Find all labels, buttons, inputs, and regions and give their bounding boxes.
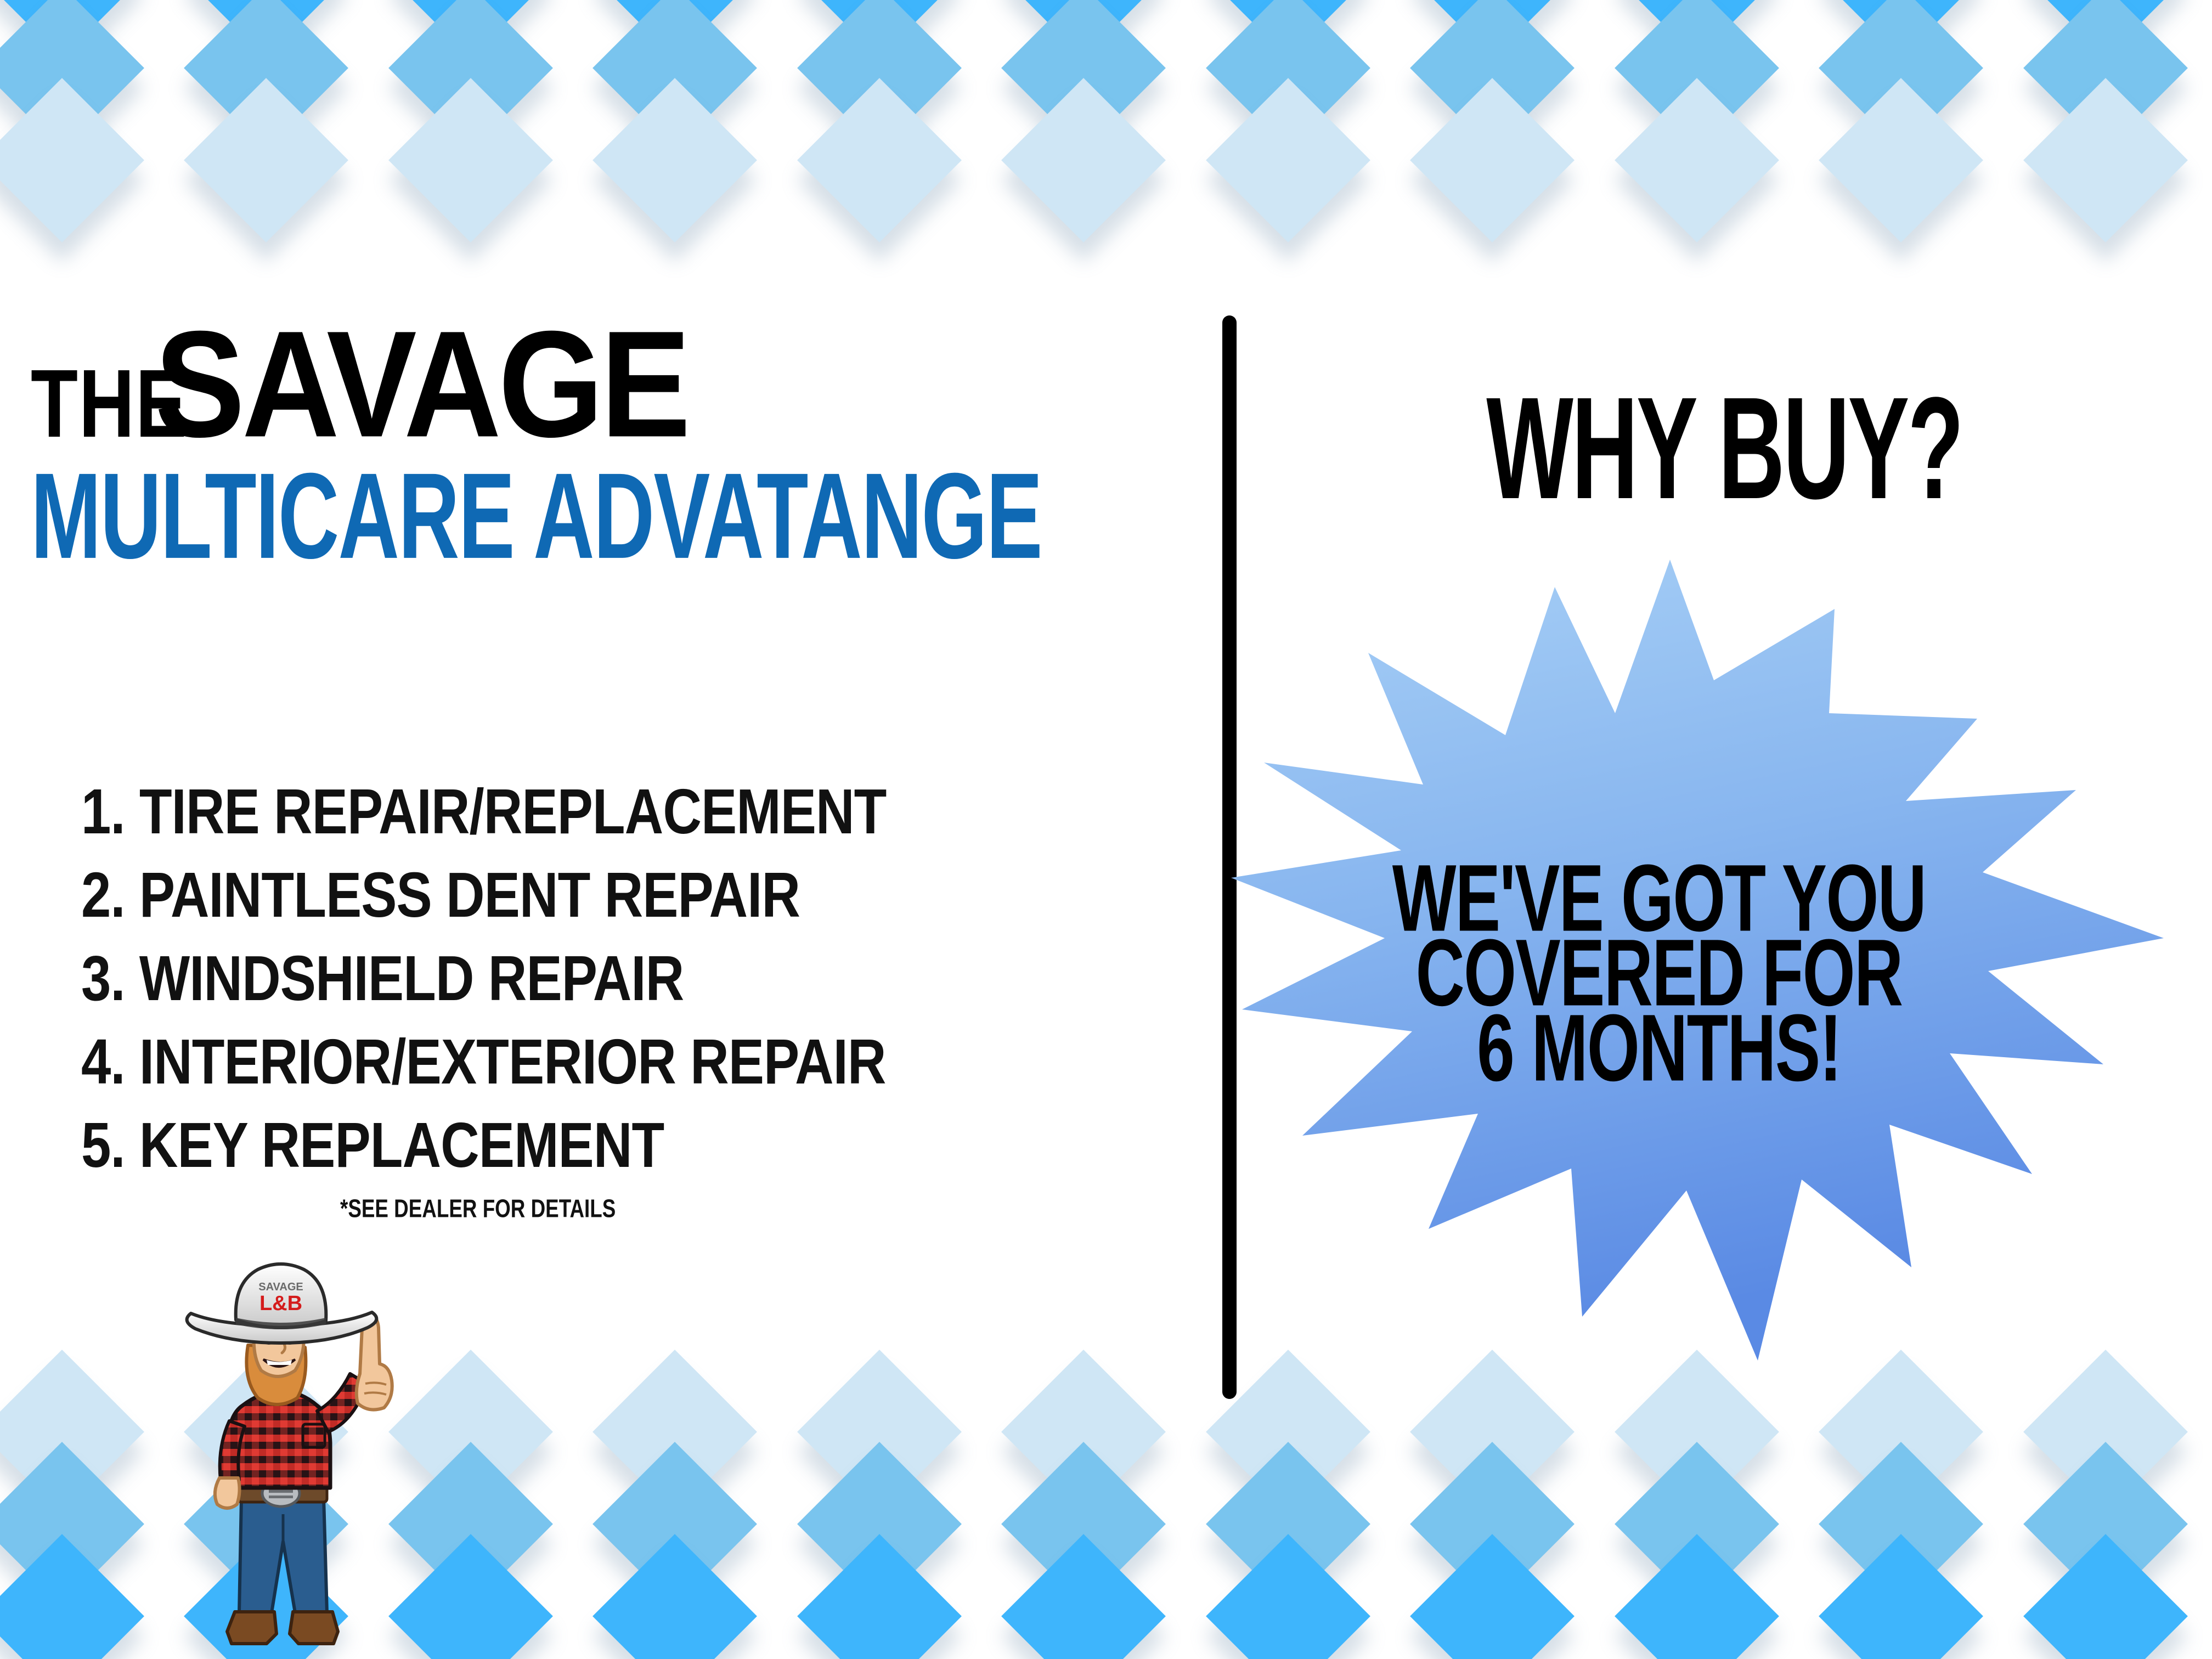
left-panel: THE SAVAGE MULTICARE ADVATANGE 1. TIRE R… [0,0,1222,1659]
list-item: 4. INTERIOR/EXTERIOR REPAIR [81,1030,1113,1094]
mascot-jeans [239,1498,327,1613]
title-subtitle-multicare-advatange: MULTICARE ADVATANGE [31,461,1092,573]
title-row-primary: THE SAVAGE [31,323,1172,449]
services-list: 1. TIRE REPAIR/REPLACEMENT 2. PAINTLESS … [81,783,1178,1200]
starburst-badge: WE'VE GOT YOU COVERED FOR 6 MONTHS! [1220,554,2208,1377]
burst-line: 6 MONTHS! [1344,1003,1974,1094]
hat-logo-savage: SAVAGE [258,1281,303,1293]
mascot-boots [227,1612,338,1644]
list-item: 3. WINDSHIELD REPAIR [81,947,1113,1011]
right-panel: WHY BUY? WE'VE GOT YOU COVERED FOR 6 MON… [1237,0,2212,1659]
list-item: 5. KEY REPLACEMENT [81,1114,1113,1177]
why-buy-headline: WHY BUY? [1334,379,2114,518]
title-block: THE SAVAGE MULTICARE ADVATANGE [31,323,1172,545]
mascot-cowboy-illustration: SAVAGE L&B [159,1256,411,1659]
poster-content: THE SAVAGE MULTICARE ADVATANGE 1. TIRE R… [0,0,2212,1659]
mascot-cowboy-hat: SAVAGE L&B [187,1264,377,1343]
starburst-text: WE'VE GOT YOU COVERED FOR 6 MONTHS! [1297,861,2021,1086]
hat-logo-lb: L&B [259,1292,302,1315]
title-word-savage: SAVAGE [155,319,688,449]
list-item: 2. PAINTLESS DENT REPAIR [81,864,1113,927]
list-item: 1. TIRE REPAIR/REPLACEMENT [81,780,1113,844]
disclaimer-text: *SEE DEALER FOR DETAILS [340,1195,616,1223]
